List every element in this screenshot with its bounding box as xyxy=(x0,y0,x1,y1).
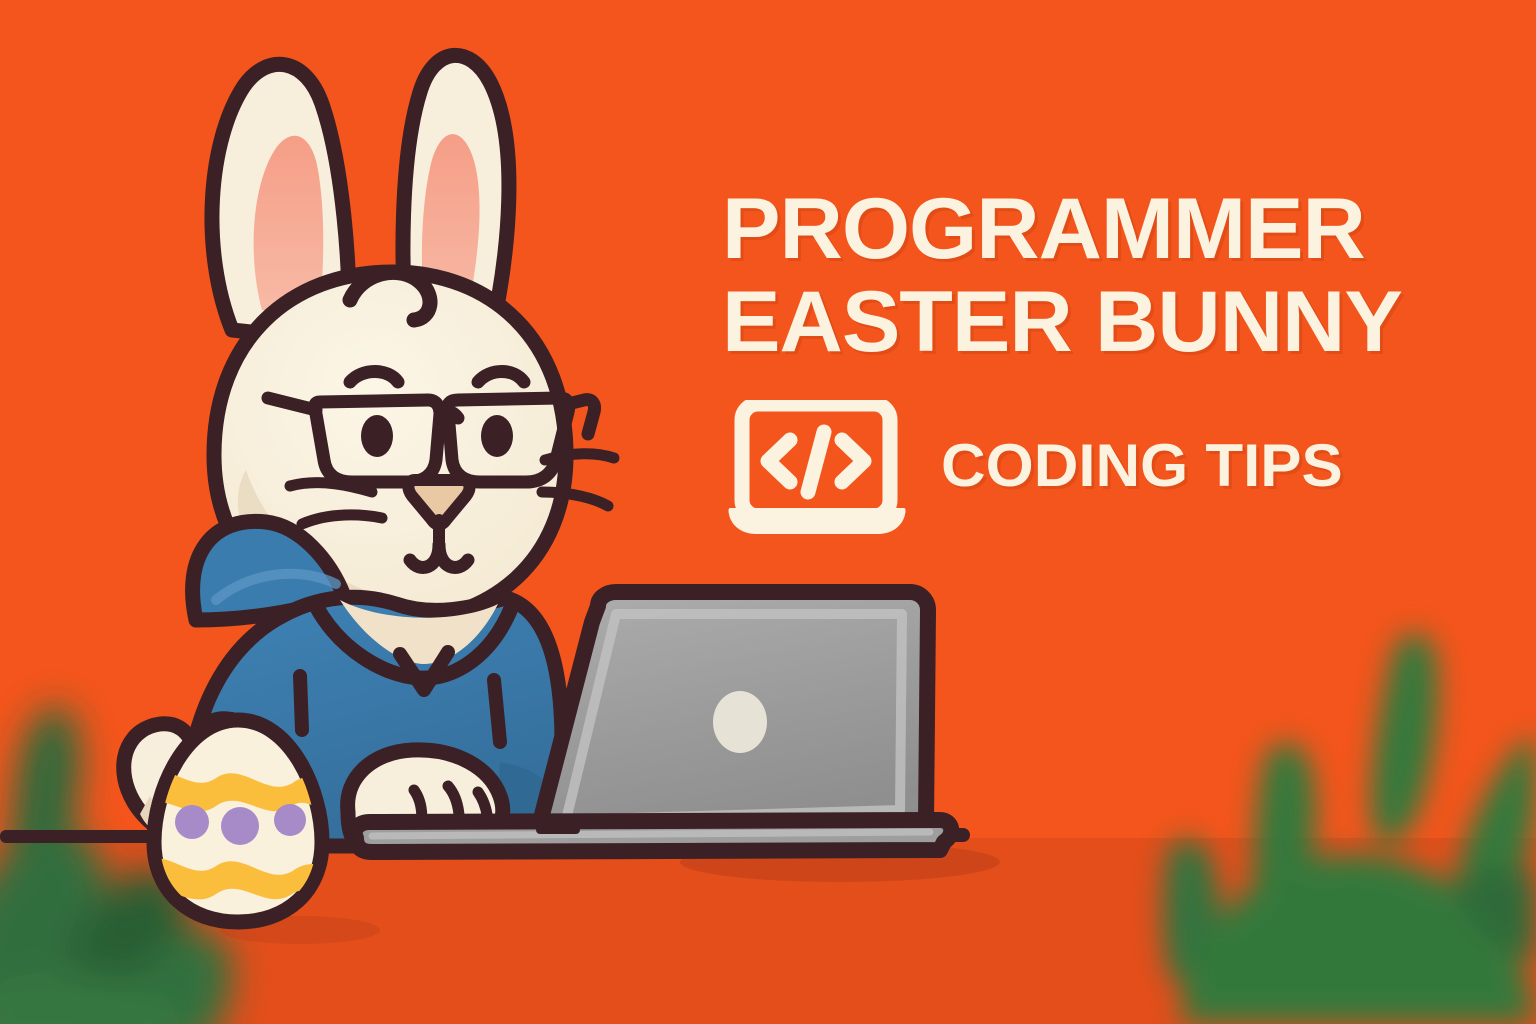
poster-canvas: PROGRAMMER EASTER BUNNY CODING TIPS xyxy=(0,0,1536,1024)
laptop-logo xyxy=(713,691,767,753)
illustration-svg xyxy=(0,0,1536,1024)
